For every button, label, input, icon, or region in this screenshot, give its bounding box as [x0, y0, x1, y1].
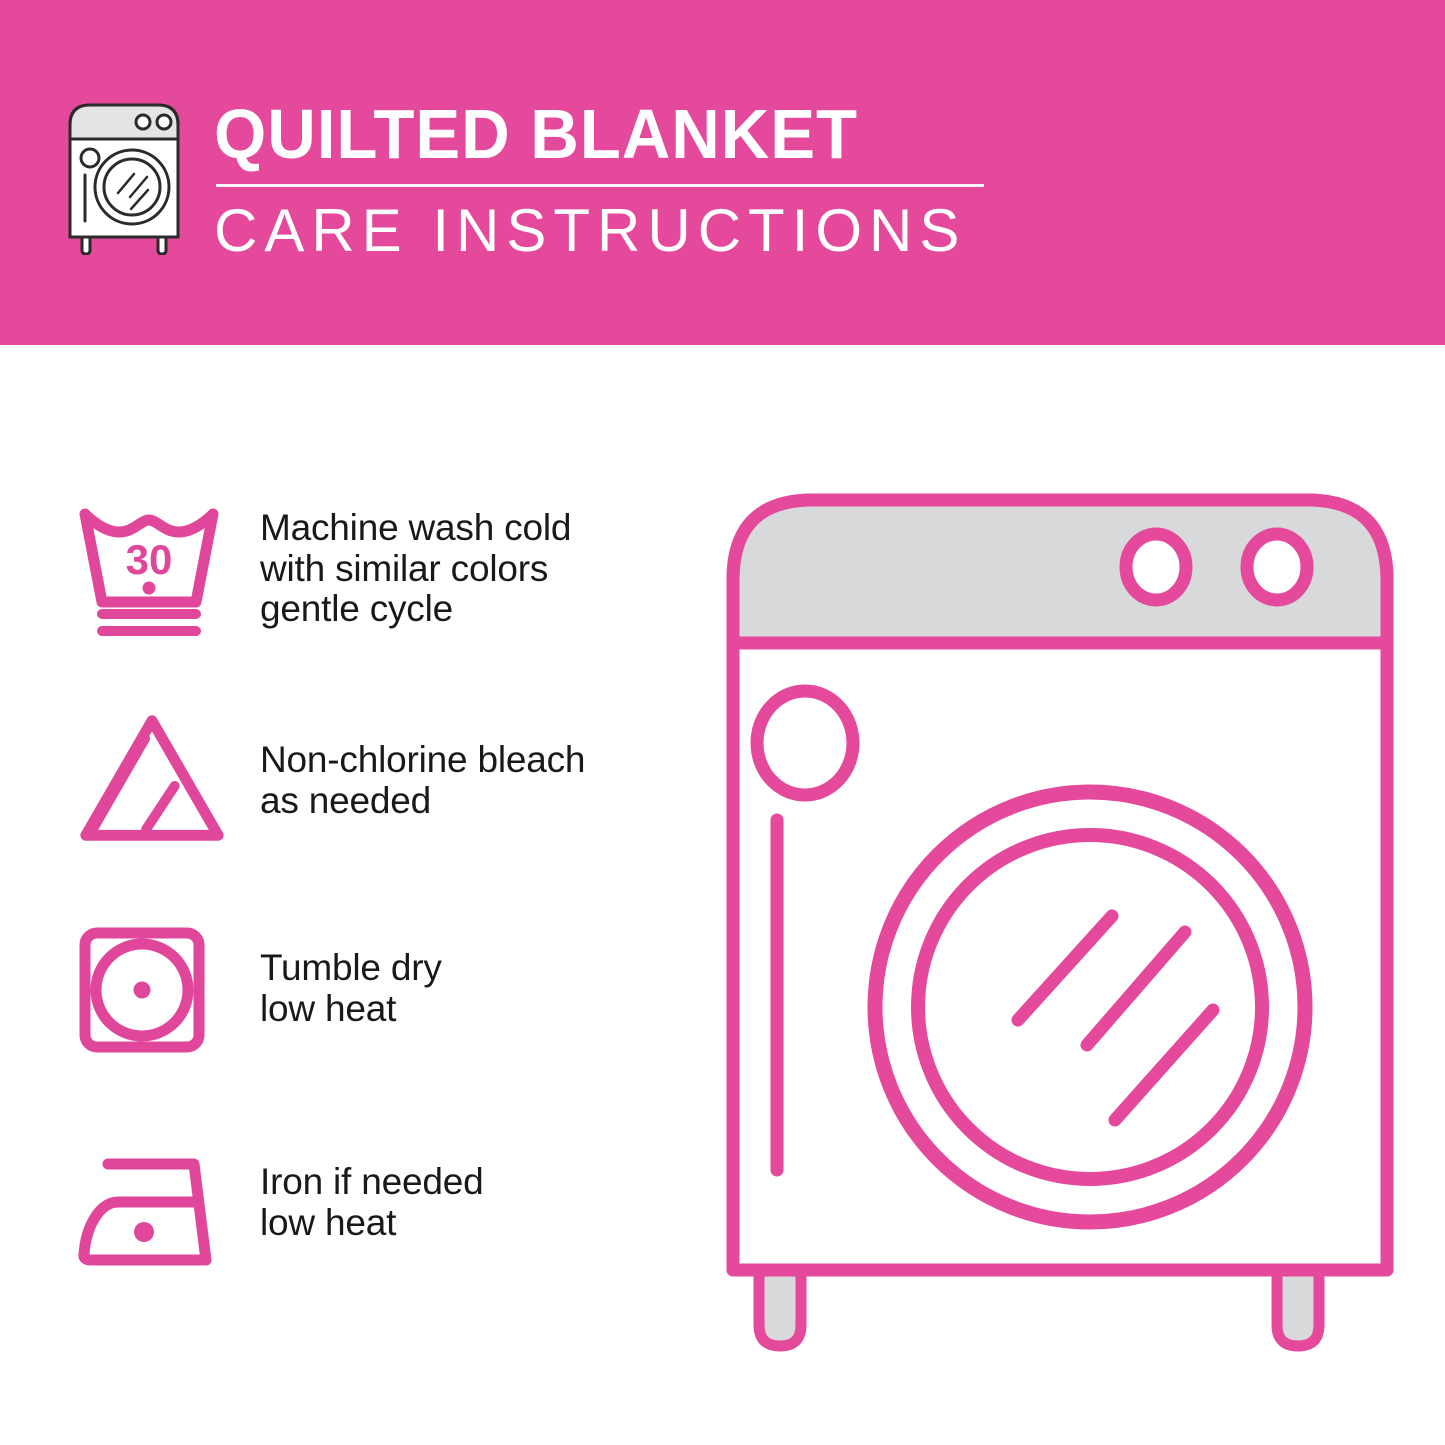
page-title: QUILTED BLANKET — [214, 99, 953, 169]
bleach-symbol-wrapper — [72, 678, 232, 848]
instruction-line: Tumble dry — [260, 948, 442, 989]
instruction-text-tumble-dry: Tumble dry low heat — [260, 896, 442, 1029]
instruction-text-iron: Iron if needed low heat — [260, 1114, 483, 1243]
instruction-row-iron: Iron if needed low heat — [0, 1114, 700, 1332]
dial-right — [1247, 534, 1307, 600]
instruction-line: Iron if needed — [260, 1162, 483, 1203]
wash-tub-icon: 30 — [72, 498, 227, 643]
instruction-line: Machine wash cold — [260, 508, 571, 549]
header-title-block: QUILTED BLANKET CARE INSTRUCTIONS — [214, 95, 984, 261]
instruction-row-bleach: Non-chlorine bleach as needed — [0, 678, 700, 896]
instruction-line: low heat — [260, 1203, 483, 1244]
header-banner: QUILTED BLANKET CARE INSTRUCTIONS — [0, 0, 1445, 345]
instruction-text-bleach: Non-chlorine bleach as needed — [260, 678, 585, 821]
dial-left — [1126, 534, 1186, 600]
instruction-row-tumble-dry: Tumble dry low heat — [0, 896, 700, 1114]
title-divider — [216, 184, 984, 187]
tumble-dry-icon — [72, 920, 212, 1060]
wash-temperature-label: 30 — [126, 536, 173, 583]
instruction-line: low heat — [260, 989, 442, 1030]
bleach-triangle-icon — [72, 708, 232, 848]
iron-icon — [72, 1150, 230, 1275]
tumble-dry-symbol-wrapper — [72, 896, 232, 1060]
instruction-row-wash: 30 Machine wash cold with similar colors… — [0, 460, 700, 678]
care-instructions-list: 30 Machine wash cold with similar colors… — [0, 460, 700, 1332]
button-knob — [757, 691, 853, 795]
page-subtitle: CARE INSTRUCTIONS — [214, 201, 984, 261]
instruction-line: gentle cycle — [260, 589, 571, 630]
washing-machine-icon — [58, 95, 190, 255]
instruction-text-wash: Machine wash cold with similar colors ge… — [260, 460, 571, 630]
washing-machine-illustration — [715, 480, 1405, 1370]
wash-symbol-wrapper: 30 — [72, 460, 232, 643]
instruction-line: as needed — [260, 781, 585, 822]
iron-symbol-wrapper — [72, 1114, 232, 1275]
instruction-line: Non-chlorine bleach — [260, 740, 585, 781]
header-content: QUILTED BLANKET CARE INSTRUCTIONS — [58, 95, 984, 261]
instruction-line: with similar colors — [260, 549, 571, 590]
